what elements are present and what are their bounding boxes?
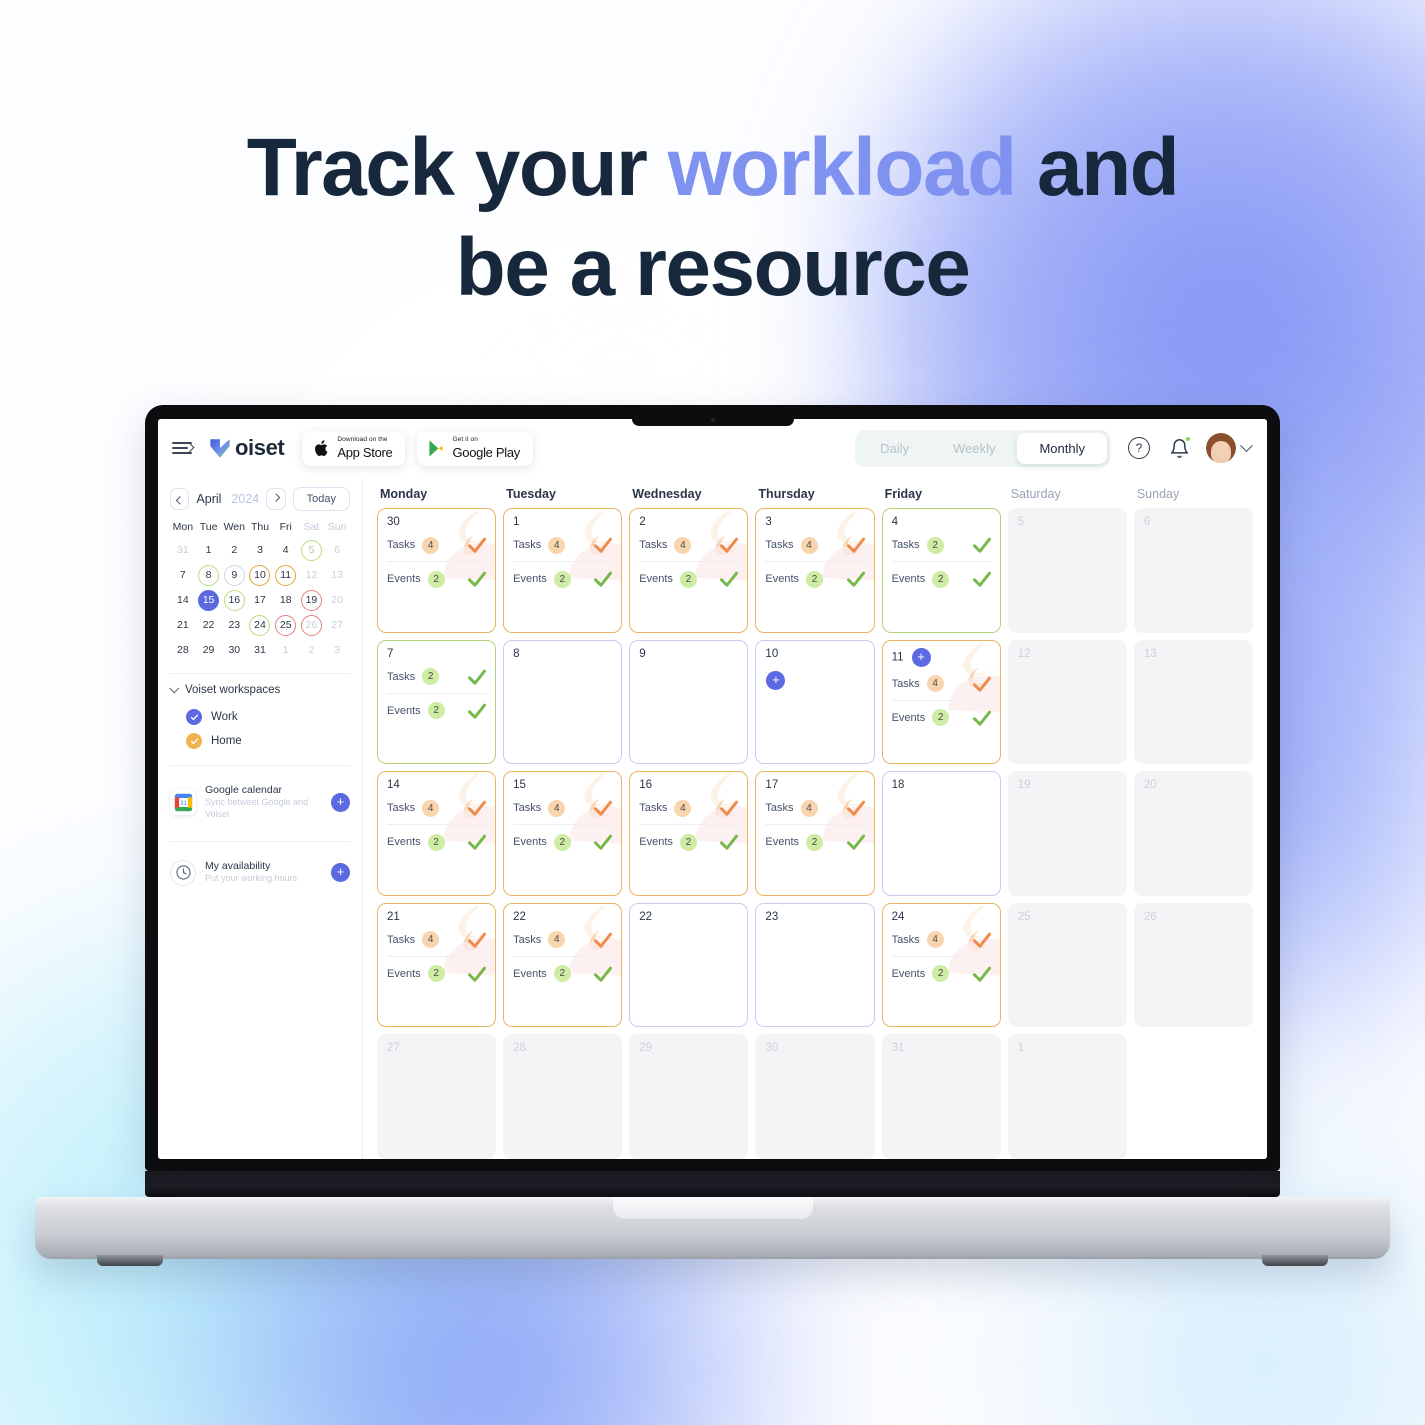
tasks-metric: Tasks4 bbox=[892, 674, 992, 694]
headline-highlight: workload bbox=[668, 122, 1016, 213]
tasks-count: 4 bbox=[927, 931, 944, 948]
day-number: 22 bbox=[513, 911, 613, 923]
divider bbox=[170, 765, 350, 766]
add-event-button[interactable]: + bbox=[766, 671, 785, 690]
calendar-day-cell[interactable]: 10+ bbox=[755, 640, 874, 765]
voiset-logo-text: oiset bbox=[235, 435, 284, 461]
tasks-metric: Tasks4 bbox=[387, 798, 487, 818]
divider bbox=[639, 561, 739, 562]
calendar-day-cell[interactable]: 7Tasks2Events2 bbox=[377, 640, 496, 765]
mini-calendar-cell: 2 bbox=[299, 639, 325, 661]
help-icon[interactable]: ? bbox=[1126, 435, 1152, 461]
day-number: 30 bbox=[387, 516, 487, 528]
events-label: Events bbox=[892, 968, 926, 980]
workspace-label: Home bbox=[211, 735, 242, 747]
mini-calendar-cell: 19 bbox=[299, 589, 325, 611]
mini-calendar-dow-wen: Wen bbox=[221, 521, 247, 539]
integration-subtitle: Put your working hours bbox=[205, 873, 322, 885]
tasks-label: Tasks bbox=[639, 539, 667, 551]
events-check-icon bbox=[972, 964, 992, 984]
events-label: Events bbox=[387, 573, 421, 585]
calendar-day-cell[interactable]: 9 bbox=[629, 640, 748, 765]
mini-calendar-cell: 12 bbox=[299, 564, 325, 586]
events-check-icon bbox=[719, 832, 739, 852]
mini-calendar-cell: 1 bbox=[273, 639, 299, 661]
mini-calendar-day[interactable]: 14 bbox=[172, 590, 193, 611]
mini-calendar-day[interactable]: 1 bbox=[275, 640, 296, 661]
mini-calendar-day[interactable]: 31 bbox=[249, 640, 270, 661]
tasks-metric: Tasks4 bbox=[513, 798, 613, 818]
events-metric: Events2 bbox=[765, 832, 865, 852]
calendar-day-cell[interactable]: 6 bbox=[1134, 508, 1253, 633]
calendar-header-wednesday: Wednesday bbox=[629, 487, 748, 501]
mini-calendar-day[interactable]: 25 bbox=[275, 615, 296, 636]
day-number: 29 bbox=[639, 1042, 739, 1054]
events-metric: Events2 bbox=[639, 832, 739, 852]
mini-calendar-day[interactable]: 2 bbox=[224, 540, 245, 561]
calendar-day-cell[interactable]: 8 bbox=[503, 640, 622, 765]
mini-calendar-day[interactable]: 29 bbox=[198, 640, 219, 661]
mini-calendar-cell: 18 bbox=[273, 589, 299, 611]
day-number: 1 bbox=[1018, 1042, 1118, 1054]
mini-calendar-cell: 1 bbox=[196, 539, 222, 561]
calendar-day-cell[interactable]: 1Tasks4Events2 bbox=[503, 508, 622, 633]
day-number: 7 bbox=[387, 648, 487, 660]
calendar-header-monday: Monday bbox=[377, 487, 496, 501]
mini-calendar-cell: 23 bbox=[221, 614, 247, 636]
day-number: 25 bbox=[1018, 911, 1118, 923]
events-label: Events bbox=[387, 836, 421, 848]
day-number: 27 bbox=[387, 1042, 487, 1054]
mini-calendar-header: April 2024 Today bbox=[170, 487, 350, 511]
workspace-item-work[interactable]: Work bbox=[170, 705, 350, 729]
divider bbox=[170, 841, 350, 842]
tab-weekly[interactable]: Weekly bbox=[931, 433, 1017, 464]
prev-month-button[interactable] bbox=[170, 488, 189, 510]
events-metric: Events2 bbox=[387, 832, 487, 852]
calendar-day-cell[interactable]: 29 bbox=[629, 1034, 748, 1159]
mini-calendar-day[interactable]: 4 bbox=[275, 540, 296, 561]
mini-calendar-cell: 29 bbox=[196, 639, 222, 661]
mini-calendar-day[interactable]: 11 bbox=[275, 565, 296, 586]
mini-calendar-days: 3112345678910111213141516171819202122232… bbox=[170, 539, 350, 661]
events-label: Events bbox=[639, 836, 673, 848]
tasks-label: Tasks bbox=[892, 678, 920, 690]
events-check-icon bbox=[846, 569, 866, 589]
divider bbox=[892, 956, 992, 957]
mini-calendar-cell: 31 bbox=[247, 639, 273, 661]
laptop-screen-bezel: oiset Download on the App Store bbox=[145, 405, 1280, 1171]
events-metric: Events2 bbox=[639, 569, 739, 589]
laptop-mockup: oiset Download on the App Store bbox=[145, 405, 1280, 1259]
calendar-day-cell[interactable]: 4Tasks2Events2 bbox=[882, 508, 1001, 633]
events-label: Events bbox=[765, 836, 799, 848]
mini-calendar-day[interactable]: 28 bbox=[172, 640, 193, 661]
events-count: 2 bbox=[554, 965, 571, 982]
tasks-metric: Tasks4 bbox=[639, 535, 739, 555]
tasks-label: Tasks bbox=[892, 539, 920, 551]
events-label: Events bbox=[513, 968, 547, 980]
events-metric: Events2 bbox=[387, 964, 487, 984]
calendar-day-headers: MondayTuesdayWednesdayThursdayFridaySatu… bbox=[377, 487, 1253, 501]
tasks-metric: Tasks4 bbox=[765, 535, 865, 555]
calendar-day-cell[interactable]: 16Tasks4Events2 bbox=[629, 771, 748, 896]
day-number: 2 bbox=[639, 516, 739, 528]
calendar-day-cell[interactable]: 23 bbox=[755, 903, 874, 1028]
tasks-count: 2 bbox=[927, 537, 944, 554]
app-store-button[interactable]: Download on the App Store bbox=[302, 431, 405, 466]
mini-calendar-day[interactable]: 7 bbox=[172, 565, 193, 586]
events-metric: Events2 bbox=[765, 569, 865, 589]
day-number: 8 bbox=[513, 648, 613, 660]
tasks-check-icon bbox=[719, 798, 739, 818]
workspace-item-home[interactable]: Home bbox=[170, 729, 350, 753]
events-count: 2 bbox=[680, 834, 697, 851]
events-count: 2 bbox=[806, 571, 823, 588]
laptop-foot-right bbox=[1262, 1255, 1328, 1266]
divider bbox=[892, 561, 992, 562]
calendar-day-cell[interactable]: 3Tasks4Events2 bbox=[755, 508, 874, 633]
mini-calendar-day[interactable]: 3 bbox=[249, 540, 270, 561]
tasks-check-icon bbox=[719, 535, 739, 555]
app-screen: oiset Download on the App Store bbox=[158, 419, 1267, 1159]
tasks-count: 4 bbox=[801, 537, 818, 554]
divider bbox=[765, 561, 865, 562]
check-icon[interactable] bbox=[186, 733, 202, 749]
calendar-week-row: 30Tasks4Events21Tasks4Events22Tasks4Even… bbox=[377, 508, 1253, 633]
events-count: 2 bbox=[932, 571, 949, 588]
mini-calendar-day[interactable]: 2 bbox=[301, 640, 322, 661]
events-count: 2 bbox=[428, 571, 445, 588]
tasks-check-icon bbox=[593, 930, 613, 950]
tasks-count: 4 bbox=[422, 800, 439, 817]
calendar-day-cell[interactable]: 20 bbox=[1134, 771, 1253, 896]
integration-add-button[interactable]: + bbox=[331, 793, 350, 812]
calendar-day-cell[interactable]: 1 bbox=[1008, 1034, 1127, 1159]
day-number: 4 bbox=[892, 516, 992, 528]
integration-title: Google calendar bbox=[205, 784, 322, 797]
calendar-week-row: 21Tasks4Events222Tasks4Events2222324Task… bbox=[377, 903, 1253, 1028]
calendar-header-saturday: Saturday bbox=[1008, 487, 1127, 501]
calendar-day-cell[interactable]: 18 bbox=[882, 771, 1001, 896]
check-icon[interactable] bbox=[186, 709, 202, 725]
calendar-day-cell[interactable]: 14Tasks4Events2 bbox=[377, 771, 496, 896]
calendar-header-sunday: Sunday bbox=[1134, 487, 1253, 501]
calendar-day-cell[interactable]: 12 bbox=[1008, 640, 1127, 765]
divider bbox=[170, 673, 350, 674]
events-check-icon bbox=[467, 832, 487, 852]
day-number: 30 bbox=[765, 1042, 865, 1054]
mini-calendar-day[interactable]: 6 bbox=[327, 540, 348, 561]
mini-calendar-day[interactable]: 1 bbox=[198, 540, 219, 561]
mini-calendar-dow-sun: Sun bbox=[324, 521, 350, 539]
day-number: 1 bbox=[513, 516, 613, 528]
events-check-icon bbox=[467, 569, 487, 589]
mini-calendar-day[interactable]: 26 bbox=[301, 615, 322, 636]
calendar-day-cell[interactable]: 13 bbox=[1134, 640, 1253, 765]
tasks-metric: Tasks4 bbox=[387, 535, 487, 555]
mini-calendar-day[interactable]: 24 bbox=[249, 615, 270, 636]
headline-line-2: be a resource bbox=[456, 222, 970, 313]
tasks-metric: Tasks4 bbox=[387, 930, 487, 950]
apple-icon bbox=[313, 439, 330, 458]
google-play-subtitle: Get it on bbox=[452, 437, 520, 444]
mini-calendar-cell: 22 bbox=[196, 614, 222, 636]
mini-calendar-cell: 3 bbox=[247, 539, 273, 561]
add-event-button[interactable]: + bbox=[912, 648, 931, 667]
mini-calendar-dow-sat: Sat bbox=[299, 521, 325, 539]
mini-calendar-cell: 28 bbox=[170, 639, 196, 661]
today-button[interactable]: Today bbox=[293, 487, 350, 511]
events-check-icon bbox=[467, 701, 487, 721]
events-count: 2 bbox=[806, 834, 823, 851]
voiset-logo[interactable]: oiset bbox=[206, 434, 284, 462]
calendar-day-cell[interactable]: 26 bbox=[1134, 903, 1253, 1028]
mini-calendar-cell: 20 bbox=[324, 589, 350, 611]
events-check-icon bbox=[593, 569, 613, 589]
tasks-label: Tasks bbox=[387, 802, 415, 814]
mini-calendar-day[interactable]: 16 bbox=[224, 590, 245, 611]
calendar-day-cell[interactable]: 27 bbox=[377, 1034, 496, 1159]
calendar-day-cell[interactable]: 24Tasks4Events2 bbox=[882, 903, 1001, 1028]
day-number: 22 bbox=[639, 911, 739, 923]
tasks-check-icon bbox=[593, 798, 613, 818]
tasks-check-icon bbox=[467, 798, 487, 818]
integration-my-availability[interactable]: My availabilityPut your working hours+ bbox=[170, 852, 350, 894]
mini-calendar-day[interactable]: 30 bbox=[224, 640, 245, 661]
day-number: 21 bbox=[387, 911, 487, 923]
events-count: 2 bbox=[932, 709, 949, 726]
tasks-label: Tasks bbox=[765, 539, 793, 551]
mini-calendar-day[interactable]: 22 bbox=[198, 615, 219, 636]
tasks-check-icon bbox=[467, 535, 487, 555]
calendar-main: MondayTuesdayWednesdayThursdayFridaySatu… bbox=[363, 477, 1267, 1159]
calendar-header-tuesday: Tuesday bbox=[503, 487, 622, 501]
mini-calendar-day[interactable]: 12 bbox=[301, 565, 322, 586]
divider bbox=[513, 956, 613, 957]
events-check-icon bbox=[467, 964, 487, 984]
events-metric: Events2 bbox=[387, 701, 487, 721]
tasks-count: 4 bbox=[674, 800, 691, 817]
divider bbox=[387, 824, 487, 825]
events-count: 2 bbox=[428, 702, 445, 719]
events-label: Events bbox=[387, 968, 421, 980]
day-number: 11+ bbox=[892, 648, 992, 667]
mini-calendar-day[interactable]: 31 bbox=[172, 540, 193, 561]
calendar-day-cell[interactable]: 28 bbox=[503, 1034, 622, 1159]
calendar-header-thursday: Thursday bbox=[755, 487, 874, 501]
events-metric: Events2 bbox=[892, 708, 992, 728]
divider bbox=[513, 824, 613, 825]
mini-calendar-dow-fri: Fri bbox=[273, 521, 299, 539]
calendar-day-cell[interactable]: 22 bbox=[629, 903, 748, 1028]
events-metric: Events2 bbox=[892, 569, 992, 589]
mini-calendar-cell: 16 bbox=[221, 589, 247, 611]
mini-calendar-day[interactable]: 5 bbox=[301, 540, 322, 561]
workspaces-header[interactable]: Voiset workspaces bbox=[170, 684, 350, 696]
day-number: 13 bbox=[1144, 648, 1244, 660]
mini-calendar-day[interactable]: 19 bbox=[301, 590, 322, 611]
mini-calendar-day[interactable]: 15 bbox=[198, 590, 219, 611]
day-number: 5 bbox=[1018, 516, 1118, 528]
tab-daily[interactable]: Daily bbox=[858, 433, 931, 464]
calendar-day-cell[interactable]: 15Tasks4Events2 bbox=[503, 771, 622, 896]
events-label: Events bbox=[513, 573, 547, 585]
mini-calendar-day[interactable]: 23 bbox=[224, 615, 245, 636]
tasks-metric: Tasks4 bbox=[765, 798, 865, 818]
chevron-down-icon bbox=[1240, 439, 1253, 452]
calendar-day-cell[interactable]: 5 bbox=[1008, 508, 1127, 633]
events-check-icon bbox=[593, 832, 613, 852]
events-check-icon bbox=[846, 832, 866, 852]
calendar-day-cell[interactable]: 30Tasks4Events2 bbox=[377, 508, 496, 633]
chevron-down-icon bbox=[169, 683, 179, 693]
mini-calendar-cell: 31 bbox=[170, 539, 196, 561]
calendar-day-cell[interactable]: 2Tasks4Events2 bbox=[629, 508, 748, 633]
google-play-icon bbox=[428, 439, 445, 458]
day-number: 31 bbox=[892, 1042, 992, 1054]
tasks-count: 4 bbox=[674, 537, 691, 554]
google-play-title: Google Play bbox=[452, 446, 520, 459]
app-store-title: App Store bbox=[337, 446, 392, 459]
events-count: 2 bbox=[554, 834, 571, 851]
voiset-v-icon bbox=[206, 434, 234, 462]
divider bbox=[387, 693, 487, 694]
day-number: 18 bbox=[892, 779, 992, 791]
calendar-header-friday: Friday bbox=[882, 487, 1001, 501]
mini-calendar-cell: 2 bbox=[221, 539, 247, 561]
divider bbox=[513, 561, 613, 562]
app-store-subtitle: Download on the bbox=[337, 437, 392, 444]
tasks-label: Tasks bbox=[387, 671, 415, 683]
mini-calendar-cell: 11 bbox=[273, 564, 299, 586]
tasks-metric: Tasks4 bbox=[639, 798, 739, 818]
calendar-week-row: 14Tasks4Events215Tasks4Events216Tasks4Ev… bbox=[377, 771, 1253, 896]
mini-calendar-cell: 3 bbox=[324, 639, 350, 661]
mini-calendar-cell: 17 bbox=[247, 589, 273, 611]
hamburger-icon[interactable] bbox=[172, 440, 194, 456]
tasks-count: 4 bbox=[548, 931, 565, 948]
tasks-metric: Tasks4 bbox=[892, 930, 992, 950]
events-metric: Events2 bbox=[387, 569, 487, 589]
events-metric: Events2 bbox=[513, 569, 613, 589]
divider bbox=[387, 561, 487, 562]
day-number: 3 bbox=[765, 516, 865, 528]
events-label: Events bbox=[892, 712, 926, 724]
day-number: 26 bbox=[1144, 911, 1244, 923]
events-count: 2 bbox=[428, 965, 445, 982]
integration-title: My availability bbox=[205, 860, 322, 873]
day-number: 28 bbox=[513, 1042, 613, 1054]
mini-calendar-cell: 5 bbox=[299, 539, 325, 561]
tasks-count: 4 bbox=[927, 675, 944, 692]
tasks-count: 4 bbox=[422, 931, 439, 948]
events-label: Events bbox=[387, 705, 421, 717]
view-mode-tabs: Daily Weekly Monthly bbox=[855, 430, 1110, 467]
mini-calendar-day[interactable]: 18 bbox=[275, 590, 296, 611]
laptop-foot-left bbox=[97, 1255, 163, 1266]
calendar-day-cell[interactable]: 19 bbox=[1008, 771, 1127, 896]
calendar-day-cell[interactable]: 11+Tasks4Events2 bbox=[882, 640, 1001, 765]
tasks-check-icon bbox=[972, 930, 992, 950]
mini-calendar-day[interactable]: 10 bbox=[249, 565, 270, 586]
tasks-label: Tasks bbox=[892, 934, 920, 946]
mini-calendar-day[interactable]: 13 bbox=[327, 565, 348, 586]
divider bbox=[387, 956, 487, 957]
mini-calendar-day[interactable]: 20 bbox=[327, 590, 348, 611]
calendar-day-cell[interactable]: 21Tasks4Events2 bbox=[377, 903, 496, 1028]
mini-calendar-cell: 10 bbox=[247, 564, 273, 586]
day-number: 14 bbox=[387, 779, 487, 791]
calendar-day-cell[interactable]: 17Tasks4Events2 bbox=[755, 771, 874, 896]
notification-bell-icon[interactable] bbox=[1166, 435, 1192, 461]
mini-calendar-cell: 8 bbox=[196, 564, 222, 586]
mini-calendar-day[interactable]: 27 bbox=[327, 615, 348, 636]
mini-calendar-day[interactable]: 3 bbox=[327, 640, 348, 661]
day-number: 15 bbox=[513, 779, 613, 791]
divider bbox=[892, 700, 992, 701]
mini-calendar-cell: 9 bbox=[221, 564, 247, 586]
clock-icon bbox=[170, 860, 196, 886]
tasks-metric: Tasks4 bbox=[513, 535, 613, 555]
calendar-day-cell[interactable]: 25 bbox=[1008, 903, 1127, 1028]
day-number: 12 bbox=[1018, 648, 1118, 660]
tab-monthly[interactable]: Monthly bbox=[1017, 433, 1107, 464]
avatar bbox=[1206, 433, 1236, 463]
mini-calendar-grid: MonTueWenThuFriSatSun bbox=[170, 521, 350, 539]
events-label: Events bbox=[513, 836, 547, 848]
calendar-day-cell[interactable]: 30 bbox=[755, 1034, 874, 1159]
svg-text:31: 31 bbox=[180, 801, 187, 807]
page-headline: Track your workload and be a resource bbox=[0, 118, 1425, 318]
headline-part-1: Track your bbox=[247, 122, 668, 213]
mini-calendar-dow-thu: Thu bbox=[247, 521, 273, 539]
mini-calendar-cell: 24 bbox=[247, 614, 273, 636]
notification-dot bbox=[1185, 436, 1191, 442]
user-menu[interactable] bbox=[1206, 433, 1251, 463]
sidebar: April 2024 Today MonTueWenThuFriSatSun 3… bbox=[158, 477, 363, 1159]
events-count: 2 bbox=[680, 571, 697, 588]
mini-calendar-cell: 4 bbox=[273, 539, 299, 561]
headline-part-2: and bbox=[1016, 122, 1179, 213]
mini-calendar-cell: 21 bbox=[170, 614, 196, 636]
mini-calendar-day[interactable]: 21 bbox=[172, 615, 193, 636]
events-check-icon bbox=[972, 708, 992, 728]
events-label: Events bbox=[892, 573, 926, 585]
mini-calendar-day[interactable]: 17 bbox=[249, 590, 270, 611]
day-number: 20 bbox=[1144, 779, 1244, 791]
events-check-icon bbox=[972, 569, 992, 589]
mini-calendar-day[interactable]: 8 bbox=[198, 565, 219, 586]
tasks-metric: Tasks2 bbox=[387, 667, 487, 687]
tasks-count: 4 bbox=[548, 537, 565, 554]
tasks-check-icon bbox=[846, 798, 866, 818]
mini-calendar-year: 2024 bbox=[231, 492, 259, 506]
integration-google-calendar[interactable]: 31Google calendarSync betweet Google and… bbox=[170, 776, 350, 829]
tasks-count: 4 bbox=[422, 537, 439, 554]
integration-add-button[interactable]: + bbox=[331, 863, 350, 882]
tasks-label: Tasks bbox=[513, 802, 541, 814]
tasks-label: Tasks bbox=[513, 934, 541, 946]
calendar-day-cell[interactable]: 31 bbox=[882, 1034, 1001, 1159]
tasks-count: 4 bbox=[801, 800, 818, 817]
tasks-label: Tasks bbox=[765, 802, 793, 814]
mini-calendar-day[interactable]: 9 bbox=[224, 565, 245, 586]
next-month-button[interactable] bbox=[266, 488, 285, 510]
google-play-button[interactable]: Get it on Google Play bbox=[417, 431, 533, 466]
calendar-day-cell[interactable]: 22Tasks4Events2 bbox=[503, 903, 622, 1028]
events-check-icon bbox=[593, 964, 613, 984]
